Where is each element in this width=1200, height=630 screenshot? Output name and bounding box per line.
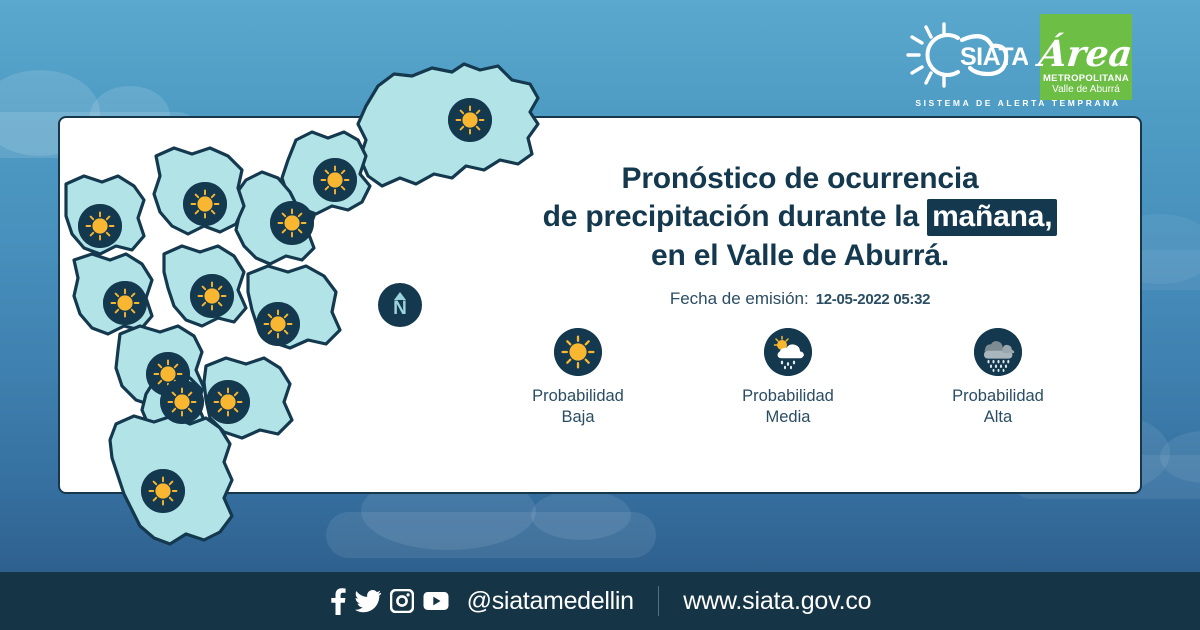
station-marker-girardota[interactable] xyxy=(313,158,357,202)
station-marker-envigado[interactable] xyxy=(206,380,250,424)
north-compass: N xyxy=(378,283,422,327)
sun-icon xyxy=(313,158,357,202)
station-marker-bello-norte[interactable] xyxy=(78,204,122,248)
title-line-2-text: de precipitación durante la xyxy=(543,200,919,233)
title-line-2: de precipitación durante la mañana, xyxy=(460,198,1140,236)
siata-tagline: SISTEMA DE ALERTA TEMPRANA xyxy=(914,98,1122,108)
compass-label: N xyxy=(393,299,407,318)
station-marker-bello[interactable] xyxy=(103,281,147,325)
instagram-icon[interactable] xyxy=(390,589,414,613)
legend-label-media: Probabilidad Media xyxy=(742,386,834,427)
legend-item-alta: Probabilidad Alta xyxy=(908,328,1088,427)
station-marker-medellin-norte[interactable] xyxy=(190,274,234,318)
sun-icon xyxy=(160,380,204,424)
page-title: Pronóstico de ocurrencia de precipitació… xyxy=(460,160,1140,275)
youtube-icon[interactable] xyxy=(423,591,449,611)
website-url[interactable]: www.siata.gov.co xyxy=(683,587,871,616)
issue-date-label: Fecha de emisión: xyxy=(670,289,809,309)
station-marker-caldas[interactable] xyxy=(141,469,185,513)
station-marker-medellin-oriente[interactable] xyxy=(256,302,300,346)
rain-cloud-icon xyxy=(974,328,1022,376)
header-logos: SIATA Área METROPOLITANA Valle de Aburrá… xyxy=(900,14,1132,112)
svg-text:SIATA: SIATA xyxy=(960,43,1028,71)
footer-divider xyxy=(658,586,660,616)
station-marker-san-pedro-de-los-milagros[interactable] xyxy=(183,182,227,226)
probability-legend: Probabilidad Baja xyxy=(488,328,1088,427)
legend-label-baja-line2: Baja xyxy=(532,407,624,428)
facebook-icon[interactable] xyxy=(329,588,346,615)
sun-icon xyxy=(78,204,122,248)
station-marker-itagui[interactable] xyxy=(160,380,204,424)
siata-logo: SIATA xyxy=(900,18,1028,92)
sun-icon xyxy=(103,281,147,325)
station-marker-barbosa[interactable] xyxy=(448,98,492,142)
legend-label-baja: Probabilidad Baja xyxy=(532,386,624,427)
legend-label-baja-line1: Probabilidad xyxy=(532,386,624,407)
legend-label-media-line2: Media xyxy=(742,407,834,428)
sun-icon xyxy=(270,201,314,245)
sun-icon xyxy=(141,469,185,513)
title-highlight-manana: mañana, xyxy=(927,199,1057,236)
legend-item-media: Probabilidad Media xyxy=(698,328,878,427)
sun-rain-cloud-icon xyxy=(764,328,812,376)
sun-icon xyxy=(554,328,602,376)
title-line-1: Pronóstico de ocurrencia xyxy=(460,160,1140,198)
area-metropolitana-badge: Área METROPOLITANA Valle de Aburrá xyxy=(1040,14,1132,100)
forecast-text-block: Pronóstico de ocurrencia de precipitació… xyxy=(460,160,1140,309)
area-badge-script: Área xyxy=(1038,36,1135,72)
twitter-icon[interactable] xyxy=(355,590,381,613)
footer-bar: @siatamedellin www.siata.gov.co xyxy=(0,572,1200,630)
sun-icon xyxy=(190,274,234,318)
station-marker-copacabana[interactable] xyxy=(270,201,314,245)
sun-icon xyxy=(183,182,227,226)
sun-icon xyxy=(448,98,492,142)
legend-label-alta-line1: Probabilidad xyxy=(952,386,1044,407)
legend-label-alta-line2: Alta xyxy=(952,407,1044,428)
social-handle[interactable]: @siatamedellin xyxy=(467,587,634,616)
issue-date-value: 12-05-2022 05:32 xyxy=(816,291,930,308)
legend-label-media-line1: Probabilidad xyxy=(742,386,834,407)
area-badge-line2: Valle de Aburrá xyxy=(1052,84,1120,96)
issue-date-row: Fecha de emisión: 12-05-2022 05:32 xyxy=(460,289,1140,309)
title-line-3: en el Valle de Aburrá. xyxy=(460,237,1140,275)
social-icon-row xyxy=(329,588,449,615)
area-badge-line1: METROPOLITANA xyxy=(1043,74,1129,84)
legend-label-alta: Probabilidad Alta xyxy=(952,386,1044,427)
legend-item-baja: Probabilidad Baja xyxy=(488,328,668,427)
sun-icon xyxy=(206,380,250,424)
sun-icon xyxy=(256,302,300,346)
